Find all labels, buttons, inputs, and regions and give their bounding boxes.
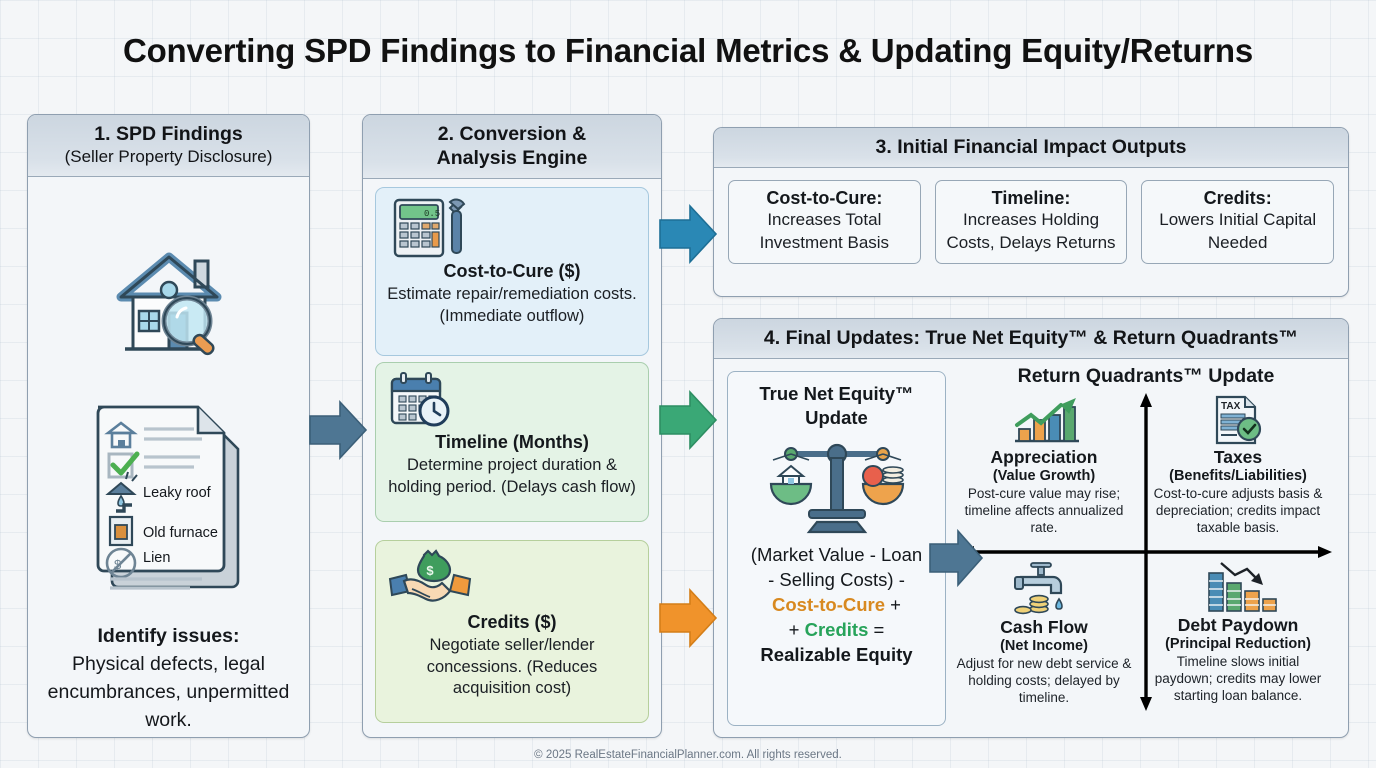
panel-conversion-engine-title2: Analysis Engine [369,146,655,170]
card-cost-to-cure-desc: Estimate repair/remediation costs. (Imme… [386,284,638,327]
card-true-net-equity-title: True Net Equity™ [736,382,937,406]
identify-issues-label: Identify issues: [98,625,240,647]
quadrant-appreciation-sub: (Value Growth) [956,468,1132,484]
panel-spd-findings-header: 1. SPD Findings (Seller Property Disclos… [28,115,309,177]
house-with-magnifier-icon [99,237,239,367]
card-cost-to-cure-title: Cost-to-Cure ($) [386,261,638,282]
output-box-credits-title: Credits: [1146,188,1329,209]
panel-final-updates: 4. Final Updates: True Net Equity™ & Ret… [713,318,1349,738]
quadrant-taxes-desc: Cost-to-cure adjusts basis & depreciatio… [1150,485,1326,536]
quadrant-taxes-name: Taxes [1150,447,1326,468]
card-cost-to-cure[interactable]: 0.5 Cost-to-Cure ($) Estim [375,187,649,356]
formula-credits: Credits [805,619,869,640]
quadrant-cash-flow-name: Cash Flow [956,617,1132,638]
card-credits-title: Credits ($) [386,612,638,633]
output-box-cost-to-cure[interactable]: Cost-to-Cure: Increases Total Investment… [728,180,921,264]
panel-conversion-engine-header: 2. Conversion & Analysis Engine [363,115,661,179]
panel-final-updates-title: 4. Final Updates: True Net Equity™ & Ret… [720,326,1342,350]
card-credits-desc: Negotiate seller/lender concessions. (Re… [386,635,638,700]
tax-document-check-icon: TAX [1150,395,1326,447]
quadrant-taxes-sub: (Benefits/Liabilities) [1150,468,1326,484]
doc-item-label-old-furnace: Old furnace [143,525,218,541]
formula-cost-to-cure: Cost-to-Cure [772,594,885,615]
footer-copyright: © 2025 RealEstateFinancialPlanner.com. A… [0,749,1376,761]
disclosure-document-icon: Leaky roof Old furnace $ Lien [90,399,248,597]
output-box-timeline-title: Timeline: [940,188,1123,209]
svg-text:$: $ [426,563,434,578]
arrow-findings-to-engine [310,398,368,462]
panel-spd-findings-subtitle: (Seller Property Disclosure) [34,146,303,168]
panel-spd-findings: 1. SPD Findings (Seller Property Disclos… [27,114,310,738]
formula-equals: = [868,619,884,640]
quadrant-debt-paydown[interactable]: Debt Paydown (Principal Reduction) Timel… [1150,561,1326,704]
handshake-moneybag-icon: $ [386,549,638,609]
svg-text:TAX: TAX [1221,401,1241,412]
panel-initial-financial-impact: 3. Initial Financial Impact Outputs Cost… [713,127,1349,297]
arrow-timeline-to-outputs [660,388,718,452]
card-timeline-desc: Determine project duration & holding per… [386,455,638,498]
doc-item-label-leaky-roof: Leaky roof [143,485,212,501]
page-title: Converting SPD Findings to Financial Met… [0,32,1376,70]
output-box-timeline[interactable]: Timeline: Increases Holding Costs, Delay… [935,180,1128,264]
arrow-cost-to-cure-to-outputs [660,202,718,266]
card-true-net-equity-title2: Update [736,406,937,430]
formula-plus-2: + [789,619,805,640]
formula-line2: - Selling Costs) - [768,569,905,590]
return-quadrants-title: Return Quadrants™ Update [954,365,1338,388]
identify-issues-text: Physical defects, legal encumbrances, un… [48,653,290,731]
card-true-net-equity[interactable]: True Net Equity™ Update [727,371,946,726]
quadrant-debt-paydown-sub: (Principal Reduction) [1150,636,1326,652]
declining-bar-chart-icon [1150,561,1326,615]
formula-result: Realizable Equity [760,644,912,665]
true-net-equity-formula: (Market Value - Loan - Selling Costs) - … [736,542,937,667]
diagram-canvas: Converting SPD Findings to Financial Met… [0,0,1376,768]
quadrant-debt-paydown-desc: Timeline slows initial paydown; credits … [1150,653,1326,704]
panel-initial-financial-impact-title: 3. Initial Financial Impact Outputs [720,135,1342,159]
card-credits[interactable]: $ Credits ($) Negotiate seller/lender co… [375,540,649,723]
quadrant-appreciation-name: Appreciation [956,447,1132,468]
quadrant-cash-flow-desc: Adjust for new debt service & holding co… [956,655,1132,706]
return-quadrants-chart: Return Quadrants™ Update [954,365,1338,727]
doc-item-label-lien: Lien [143,550,170,566]
calendar-clock-icon [386,371,638,429]
arrow-equity-to-quadrants [930,528,984,588]
balance-scale-house-money-icon [736,436,937,536]
panel-conversion-engine-title: 2. Conversion & [369,122,655,146]
card-timeline[interactable]: Timeline (Months) Determine project dura… [375,362,649,522]
panel-conversion-engine: 2. Conversion & Analysis Engine 0.5 [362,114,662,738]
output-box-timeline-desc: Increases Holding Costs, Delays Returns [940,209,1123,254]
quadrant-taxes[interactable]: TAX Taxes (Benefits/Liabilities) Cost-to… [1150,395,1326,536]
output-box-credits[interactable]: Credits: Lowers Initial Capital Needed [1141,180,1334,264]
identify-issues-caption: Identify issues: Physical defects, legal… [42,622,295,734]
panel-spd-findings-title: 1. SPD Findings [34,122,303,146]
panel-final-updates-header: 4. Final Updates: True Net Equity™ & Ret… [714,319,1348,359]
output-box-cost-to-cure-title: Cost-to-Cure: [733,188,916,209]
calculator-wrench-icon: 0.5 [386,196,638,258]
quadrant-debt-paydown-name: Debt Paydown [1150,615,1326,636]
panel-initial-financial-impact-header: 3. Initial Financial Impact Outputs [714,128,1348,168]
output-box-credits-desc: Lowers Initial Capital Needed [1146,209,1329,254]
quadrant-cash-flow-sub: (Net Income) [956,638,1132,654]
formula-line1: (Market Value - Loan [751,544,922,565]
output-box-cost-to-cure-desc: Increases Total Investment Basis [733,209,916,254]
card-timeline-title: Timeline (Months) [386,432,638,453]
quadrant-appreciation[interactable]: Appreciation (Value Growth) Post-cure va… [956,395,1132,536]
growth-bar-chart-up-icon [956,395,1132,447]
arrow-credits-to-outputs [660,586,718,650]
formula-plus-1: + [885,594,901,615]
svg-text:0.5: 0.5 [424,209,440,219]
